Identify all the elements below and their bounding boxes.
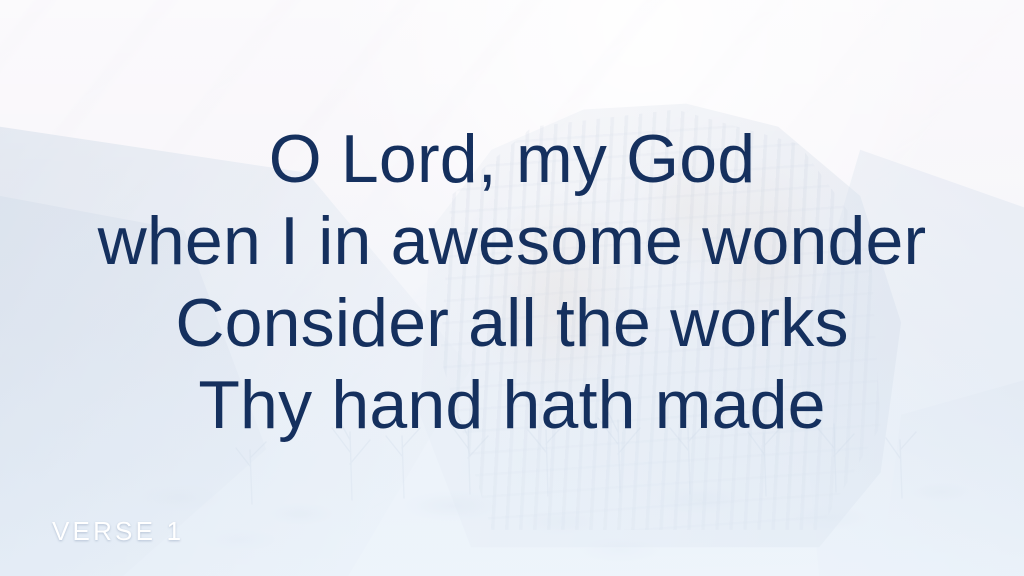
lyric-text-block: O Lord, my God when I in awesome wonder …: [0, 118, 1024, 446]
verse-label: VERSE 1: [52, 516, 184, 547]
lyric-line-2: when I in awesome wonder: [0, 200, 1024, 282]
song-lyric-slide: O Lord, my God when I in awesome wonder …: [0, 0, 1024, 576]
lyric-line-4: Thy hand hath made: [0, 364, 1024, 446]
lyric-line-1: O Lord, my God: [0, 118, 1024, 200]
lyric-line-3: Consider all the works: [0, 282, 1024, 364]
